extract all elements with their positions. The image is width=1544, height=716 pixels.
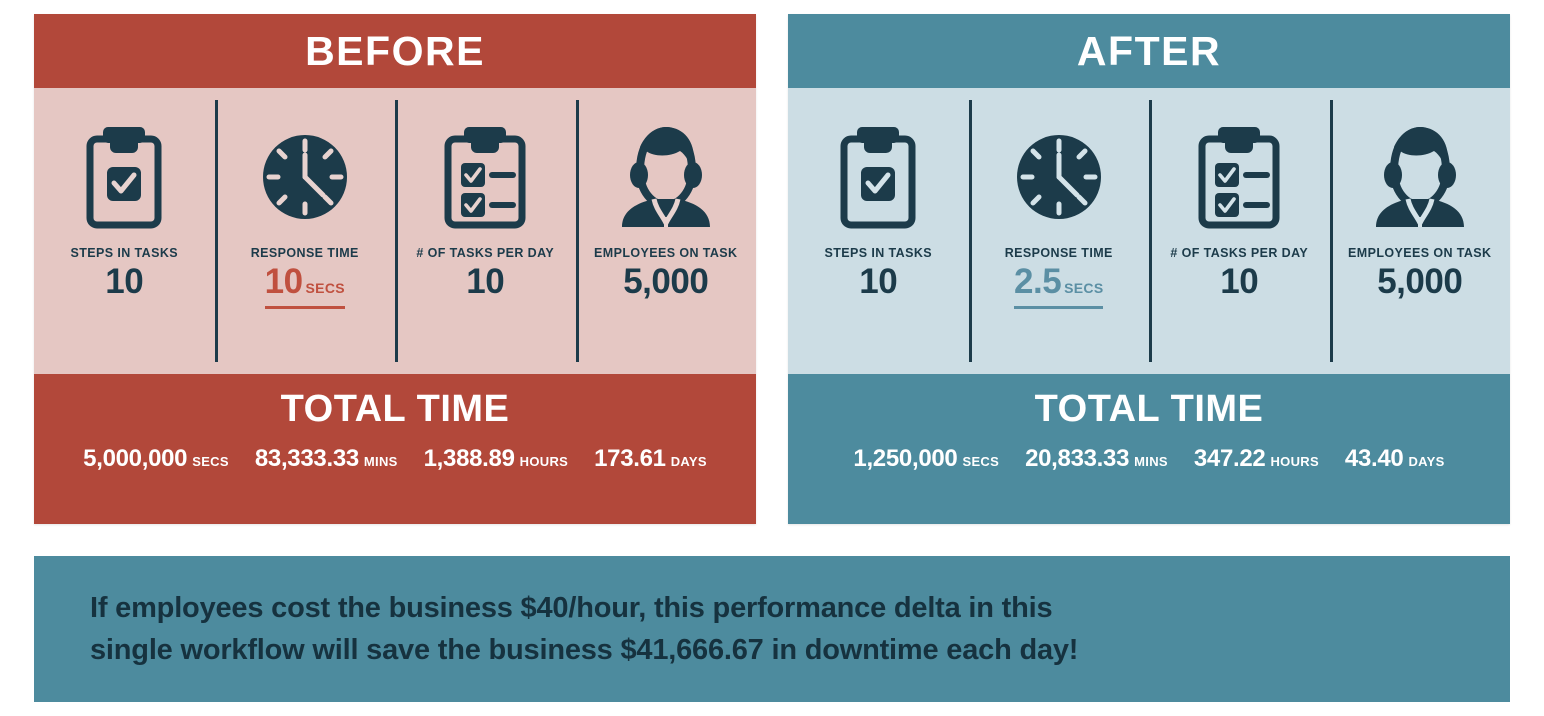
metric-label: # OF TASKS PER DAY <box>416 246 554 260</box>
metric-value: 10 <box>1220 262 1258 302</box>
footer-values-row: 1,250,000 SECS 20,833.33 MINS 347.22 HOU… <box>853 445 1444 473</box>
metric-value: 10 <box>105 262 143 302</box>
footer-unit: SECS <box>962 454 999 469</box>
metric-label: EMPLOYEES ON TASK <box>594 246 737 260</box>
before-metric-employees-on-task: EMPLOYEES ON TASK 5,000 <box>576 88 757 374</box>
footer-item-mins: 20,833.33 MINS <box>1025 445 1168 473</box>
metric-number: 10 <box>1220 262 1258 302</box>
metric-number: 10 <box>466 262 504 302</box>
employee-icon <box>610 114 722 240</box>
clock-icon <box>257 114 353 240</box>
footer-unit: HOURS <box>520 454 568 469</box>
footer-value: 1,388.89 <box>424 445 515 473</box>
callout-line-2: single workflow will save the business $… <box>90 629 1078 671</box>
footer-item-days: 43.40 DAYS <box>1345 445 1445 473</box>
footer-value: 1,250,000 <box>853 445 957 473</box>
metric-value: 10 SECS <box>265 262 345 307</box>
metric-number: 5,000 <box>1377 262 1462 302</box>
after-metrics-row: STEPS IN TASKS 10 <box>788 88 1510 374</box>
footer-values-row: 5,000,000 SECS 83,333.33 MINS 1,388.89 H… <box>83 445 707 473</box>
before-metric-tasks-per-day: # OF TASKS PER DAY 10 <box>395 88 576 374</box>
after-metric-steps-in-tasks: STEPS IN TASKS 10 <box>788 88 969 374</box>
metric-value: 5,000 <box>1377 262 1462 302</box>
footer-title: TOTAL TIME <box>1035 388 1264 431</box>
footer-value: 20,833.33 <box>1025 445 1129 473</box>
before-metrics-row: STEPS IN TASKS 10 <box>34 88 756 374</box>
metric-value: 10 <box>466 262 504 302</box>
metric-unit: SECS <box>306 280 345 296</box>
metric-label: STEPS IN TASKS <box>825 246 932 260</box>
checklist-icon <box>443 114 527 240</box>
footer-value: 83,333.33 <box>255 445 359 473</box>
footer-unit: DAYS <box>1408 454 1444 469</box>
after-metric-employees-on-task: EMPLOYEES ON TASK 5,000 <box>1330 88 1511 374</box>
comparison-panels: BEFORE STEPS IN TASKS 10 <box>34 14 1510 524</box>
footer-unit: DAYS <box>671 454 707 469</box>
footer-item-days: 173.61 DAYS <box>594 445 707 473</box>
before-metric-steps-in-tasks: STEPS IN TASKS 10 <box>34 88 215 374</box>
footer-unit: MINS <box>1134 454 1168 469</box>
after-total-time: TOTAL TIME 1,250,000 SECS 20,833.33 MINS… <box>788 374 1510 524</box>
metric-label: # OF TASKS PER DAY <box>1170 246 1308 260</box>
metric-number: 10 <box>265 262 303 302</box>
footer-item-hours: 1,388.89 HOURS <box>424 445 568 473</box>
footer-item-hours: 347.22 HOURS <box>1194 445 1319 473</box>
checklist-icon <box>1197 114 1281 240</box>
clipboard-check-icon <box>839 114 917 240</box>
before-panel-title: BEFORE <box>34 14 756 88</box>
metric-value: 5,000 <box>623 262 708 302</box>
metric-label: EMPLOYEES ON TASK <box>1348 246 1491 260</box>
footer-title: TOTAL TIME <box>281 388 510 431</box>
savings-callout: If employees cost the business $40/hour,… <box>34 556 1510 702</box>
before-total-time: TOTAL TIME 5,000,000 SECS 83,333.33 MINS… <box>34 374 756 524</box>
metric-label: RESPONSE TIME <box>1005 246 1113 260</box>
footer-value: 347.22 <box>1194 445 1266 473</box>
before-metric-response-time: RESPONSE TIME 10 SECS <box>215 88 396 374</box>
after-panel-title: AFTER <box>788 14 1510 88</box>
metric-label: RESPONSE TIME <box>251 246 359 260</box>
footer-item-secs: 5,000,000 SECS <box>83 445 229 473</box>
clock-icon <box>1011 114 1107 240</box>
metric-number: 10 <box>859 262 897 302</box>
metric-value: 2.5 SECS <box>1014 262 1103 307</box>
callout-line-1: If employees cost the business $40/hour,… <box>90 587 1052 629</box>
before-panel: BEFORE STEPS IN TASKS 10 <box>34 14 756 524</box>
footer-value: 43.40 <box>1345 445 1404 473</box>
footer-item-secs: 1,250,000 SECS <box>853 445 999 473</box>
metric-label: STEPS IN TASKS <box>71 246 178 260</box>
infographic-stage: BEFORE STEPS IN TASKS 10 <box>0 0 1544 716</box>
employee-icon <box>1364 114 1476 240</box>
metric-number: 10 <box>105 262 143 302</box>
after-metric-tasks-per-day: # OF TASKS PER DAY 10 <box>1149 88 1330 374</box>
footer-unit: HOURS <box>1270 454 1318 469</box>
footer-unit: MINS <box>364 454 398 469</box>
footer-unit: SECS <box>192 454 229 469</box>
metric-number: 2.5 <box>1014 262 1061 302</box>
metric-value: 10 <box>859 262 897 302</box>
after-panel: AFTER STEPS IN TASKS 10 <box>788 14 1510 524</box>
metric-number: 5,000 <box>623 262 708 302</box>
clipboard-check-icon <box>85 114 163 240</box>
after-metric-response-time: RESPONSE TIME 2.5 SECS <box>969 88 1150 374</box>
metric-unit: SECS <box>1064 280 1103 296</box>
footer-value: 5,000,000 <box>83 445 187 473</box>
footer-value: 173.61 <box>594 445 666 473</box>
footer-item-mins: 83,333.33 MINS <box>255 445 398 473</box>
